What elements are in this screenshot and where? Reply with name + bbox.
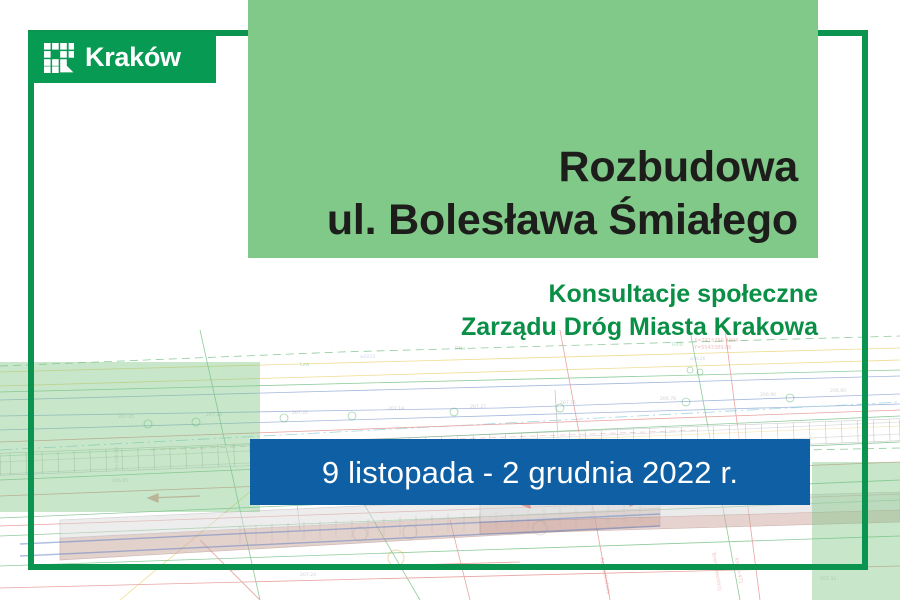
svg-text:0+400.00: 0+400.00 <box>114 447 120 470</box>
svg-text:RNa: RNa <box>455 346 465 352</box>
svg-text:207.33: 207.33 <box>820 576 836 582</box>
svg-text:Y=5543389.86: Y=5543389.86 <box>693 345 731 351</box>
svg-text:207.25: 207.25 <box>118 414 134 420</box>
svg-text:206.95: 206.95 <box>112 478 128 484</box>
krakow-grid-logo-icon <box>44 43 74 73</box>
svg-text:207.25: 207.25 <box>560 400 576 406</box>
subtitle: Konsultacje społeczne Zarządu Dróg Miast… <box>461 278 818 344</box>
page-title-line-2: ul. Bolesława Śmiałego <box>327 194 798 246</box>
krakow-brand-bar: Kraków <box>28 32 216 83</box>
krakow-wordmark: Kraków <box>85 44 181 71</box>
subtitle-line-2: Zarządu Dróg Miasta Krakowa <box>461 311 818 344</box>
date-banner: 9 listopada - 2 grudnia 2022 r. <box>250 439 810 505</box>
svg-text:207.28: 207.28 <box>206 412 222 418</box>
page-title: Rozbudowa ul. Bolesława Śmiałego <box>327 141 798 246</box>
svg-text:206.96: 206.96 <box>760 392 776 398</box>
page-title-line-1: Rozbudowa <box>327 141 798 193</box>
svg-text:207.19: 207.19 <box>388 406 404 412</box>
subtitle-line-1: Konsultacje społeczne <box>461 278 818 311</box>
svg-text:207.34: 207.34 <box>560 566 576 572</box>
svg-text:Lzw: Lzw <box>300 362 310 368</box>
svg-text:207.27: 207.27 <box>470 404 486 410</box>
svg-text:207.24: 207.24 <box>300 572 316 578</box>
svg-text:w0226: w0226 <box>690 356 706 362</box>
consultation-poster: 207.25 207.28 207.22 207.19 207.27 207.2… <box>0 0 900 600</box>
svg-text:w0225: w0225 <box>360 354 376 360</box>
svg-text:206.78: 206.78 <box>660 396 676 402</box>
title-panel: Rozbudowa ul. Bolesława Śmiałego <box>248 0 818 258</box>
svg-text:206.60: 206.60 <box>830 388 846 394</box>
svg-text:207.22: 207.22 <box>292 410 308 416</box>
date-range-text: 9 listopada - 2 grudnia 2022 r. <box>322 457 738 488</box>
